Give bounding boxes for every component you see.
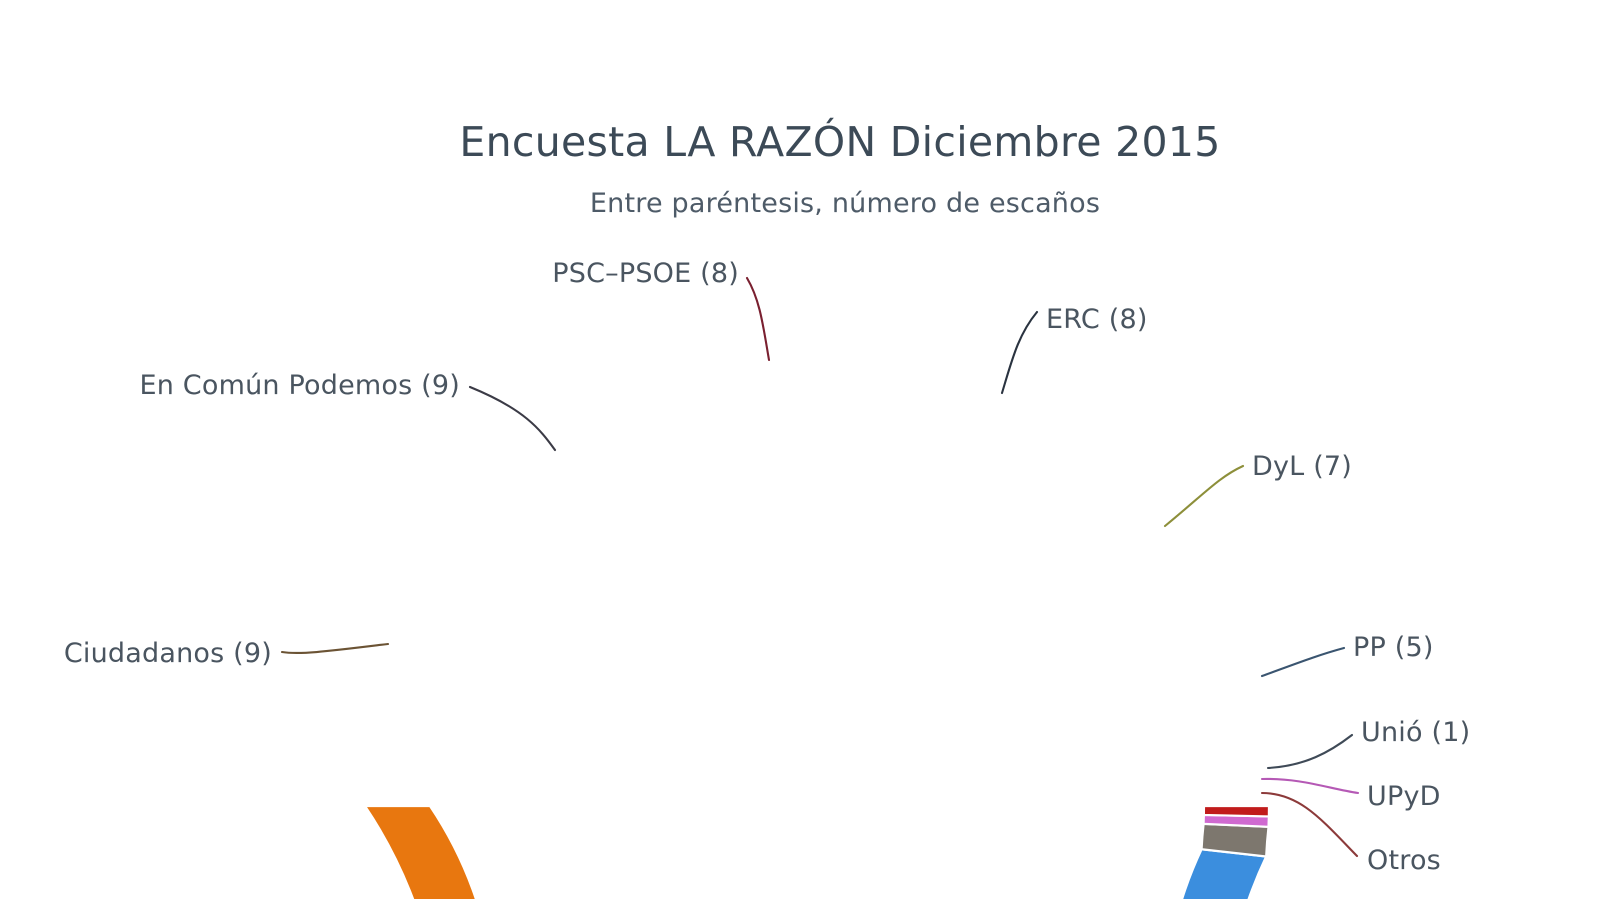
chart-canvas: Encuesta LA RAZÓN Diciembre 2015 Entre p… [0, 0, 1600, 899]
segment-ciudadanos[interactable] [365, 806, 496, 899]
leader-lines [282, 278, 1358, 856]
label-ciudadanos: Ciudadanos (9) [64, 638, 272, 669]
leader-line-unio [1268, 735, 1352, 768]
segment-pp[interactable] [1167, 849, 1266, 899]
leader-line-en-comu-podemos [470, 387, 555, 450]
label-psc-psoe: PSC–PSOE (8) [552, 258, 739, 289]
leader-line-psc-psoe [747, 278, 769, 360]
leader-line-dyl [1165, 466, 1243, 526]
leader-line-upyd [1262, 779, 1358, 793]
leader-line-pp [1262, 648, 1344, 676]
leader-line-ciudadanos [282, 644, 388, 653]
label-unio: Unió (1) [1361, 717, 1470, 748]
leader-line-erc [1002, 312, 1037, 393]
label-pp: PP (5) [1353, 632, 1434, 663]
label-en-comu-podemos: En Común Podemos (9) [139, 370, 460, 401]
chart-title: Encuesta LA RAZÓN Diciembre 2015 [459, 118, 1220, 166]
label-dyl: DyL (7) [1252, 451, 1352, 482]
label-otros: Otros [1367, 845, 1441, 876]
parliament-semicircle-chart: Encuesta LA RAZÓN Diciembre 2015 Entre p… [0, 0, 1600, 899]
leader-line-otros [1262, 793, 1357, 856]
pie-segments [365, 806, 1269, 899]
chart-subtitle: Entre paréntesis, número de escaños [590, 188, 1100, 219]
label-upyd: UPyD [1367, 781, 1441, 812]
segment-otros[interactable] [1204, 806, 1269, 816]
label-erc: ERC (8) [1046, 304, 1148, 335]
